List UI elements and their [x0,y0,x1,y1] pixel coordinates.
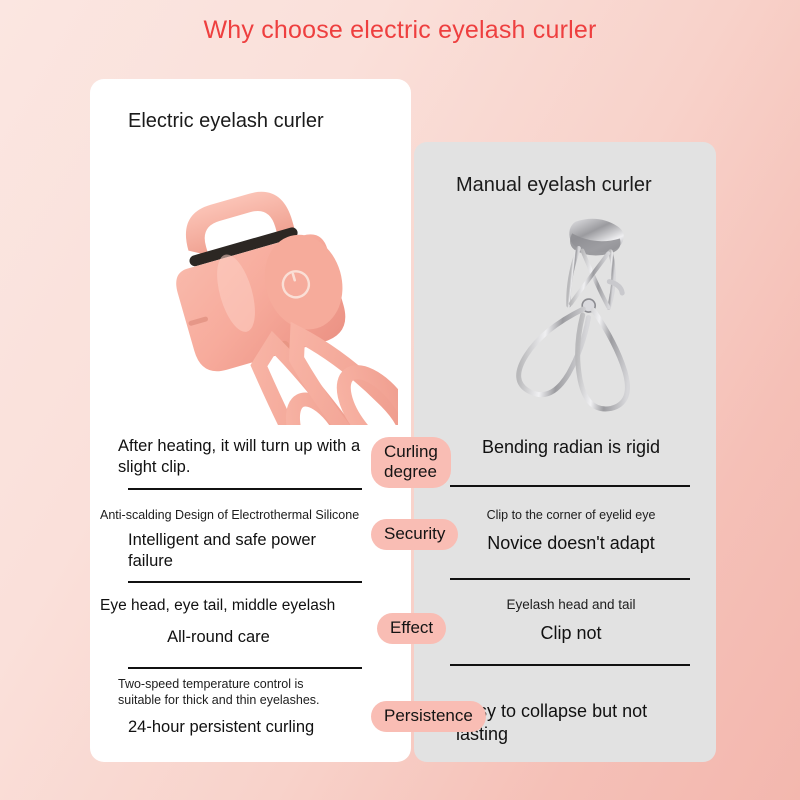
comparison-badge-curling-degree: Curling degree [371,437,451,488]
manual-main-text: Novice doesn't adapt [440,532,702,555]
electric-cell: After heating, it will turn up with a sl… [100,436,365,479]
electric-main-text: Intelligent and safe power failure [100,530,365,573]
electric-note-text: Two-speed temperature control is suitabl… [100,676,365,708]
manual-note-text: Clip to the corner of eyelid eye [440,507,702,523]
electric-note-text: Anti-scalding Design of Electrothermal S… [100,507,365,523]
electric-main-text: All-round care [100,627,365,648]
comparison-badge-effect: Effect [377,613,446,644]
manual-main-text: Bending radian is rigid [440,436,702,459]
row-divider-left [128,581,362,583]
row-divider-left [128,488,362,490]
row-divider-left [128,667,362,669]
row-divider-right [450,578,690,580]
comparison-badge-persistence: Persistence [371,701,486,732]
infographic-canvas: Why choose electric eyelash curler Elect… [0,0,800,800]
electric-main-text: After heating, it will turn up with a sl… [100,436,365,479]
row-divider-right [450,485,690,487]
comparison-table: After heating, it will turn up with a sl… [0,0,800,800]
electric-cell: Eye head, eye tail, middle eyelash All-r… [100,596,365,649]
row-divider-right [450,664,690,666]
manual-cell: Clip to the corner of eyelid eye Novice … [440,507,702,555]
electric-main-text: 24-hour persistent curling [100,717,365,738]
manual-main-text: Clip not [440,622,702,645]
manual-cell: Eyelash head and tail Clip not [440,596,702,646]
electric-cell: Two-speed temperature control is suitabl… [100,676,365,738]
comparison-badge-security: Security [371,519,458,550]
manual-cell: Bending radian is rigid [440,436,702,459]
electric-cell: Anti-scalding Design of Electrothermal S… [100,507,365,573]
manual-note-text: Eyelash head and tail [440,596,702,613]
electric-note-text: Eye head, eye tail, middle eyelash [100,596,365,616]
